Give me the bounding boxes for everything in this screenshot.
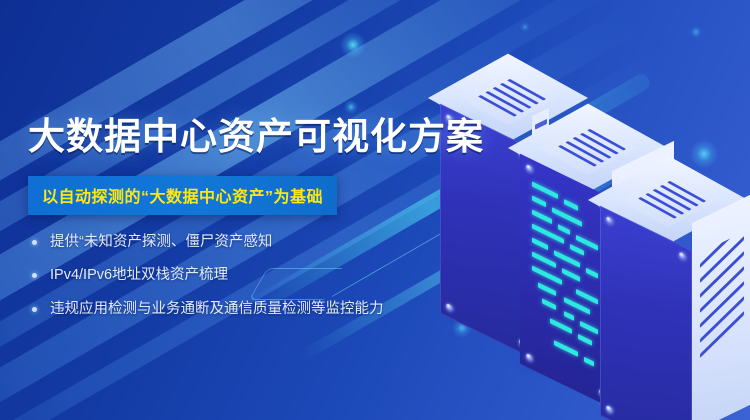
banner-text-column: 大数据中心资产可视化方案 以自动探测的“大数据中心资产”为基础 提供“未知资产探… [28, 118, 448, 334]
server-rack-illustration [432, 52, 750, 420]
data-bar [584, 357, 594, 367]
glow-dot-1 [340, 32, 366, 58]
data-bar [538, 282, 556, 296]
data-bar [554, 250, 580, 268]
data-bar [550, 318, 572, 334]
glow-dot-7 [520, 22, 530, 32]
glow-dot-2 [344, 100, 358, 114]
data-bar [554, 340, 578, 357]
list-item-label: 提供“未知资产探测、僵尸资产感知 [50, 234, 272, 250]
bullet-dot-icon [32, 240, 37, 245]
rack-side-panel-right [692, 193, 750, 420]
subtitle-badge: 以自动探测的“大数据中心资产”为基础 [28, 176, 337, 215]
data-bar [532, 237, 548, 250]
feature-list: 提供“未知资产探测、僵尸资产感知 IPv4/IPv6地址双栈资产梳理 违规应用检… [28, 234, 448, 318]
data-bar [558, 224, 570, 235]
rack-data-stream-panel [520, 154, 612, 409]
data-bar [532, 251, 556, 268]
list-item: IPv4/IPv6地址双栈资产梳理 [28, 267, 448, 284]
list-item-label: 违规应用检测与业务通断及通信质量检测等监控能力 [50, 301, 384, 317]
list-item: 违规应用检测与业务通断及通信质量检测等监控能力 [28, 301, 448, 318]
rack-screw [526, 163, 533, 173]
rack-screw [606, 404, 613, 414]
list-item-label: IPv4/IPv6地址双栈资产梳理 [50, 267, 228, 283]
rack-screw [526, 352, 533, 362]
promo-banner: 大数据中心资产可视化方案 以自动探测的“大数据中心资产”为基础 提供“未知资产探… [0, 0, 750, 420]
data-bar [564, 311, 574, 321]
data-bar [542, 298, 556, 310]
data-bar [564, 199, 578, 211]
data-bar [532, 265, 562, 285]
data-bar [570, 244, 584, 256]
glow-dot-6 [690, 26, 702, 38]
data-bar [576, 289, 598, 305]
data-bar [580, 321, 598, 335]
bullet-dot-icon [32, 273, 37, 278]
rack-side-slats-right [700, 232, 744, 403]
bullet-dot-icon [32, 307, 37, 312]
data-bar [532, 195, 546, 207]
data-bar [578, 334, 592, 346]
data-bar [562, 268, 580, 282]
rack-screw [606, 215, 613, 225]
list-item: 提供“未知资产探测、僵尸资产感知 [28, 234, 448, 251]
rack-screw [679, 251, 686, 261]
data-bar [532, 209, 552, 224]
data-bar [586, 268, 598, 279]
page-title: 大数据中心资产可视化方案 [28, 118, 448, 155]
